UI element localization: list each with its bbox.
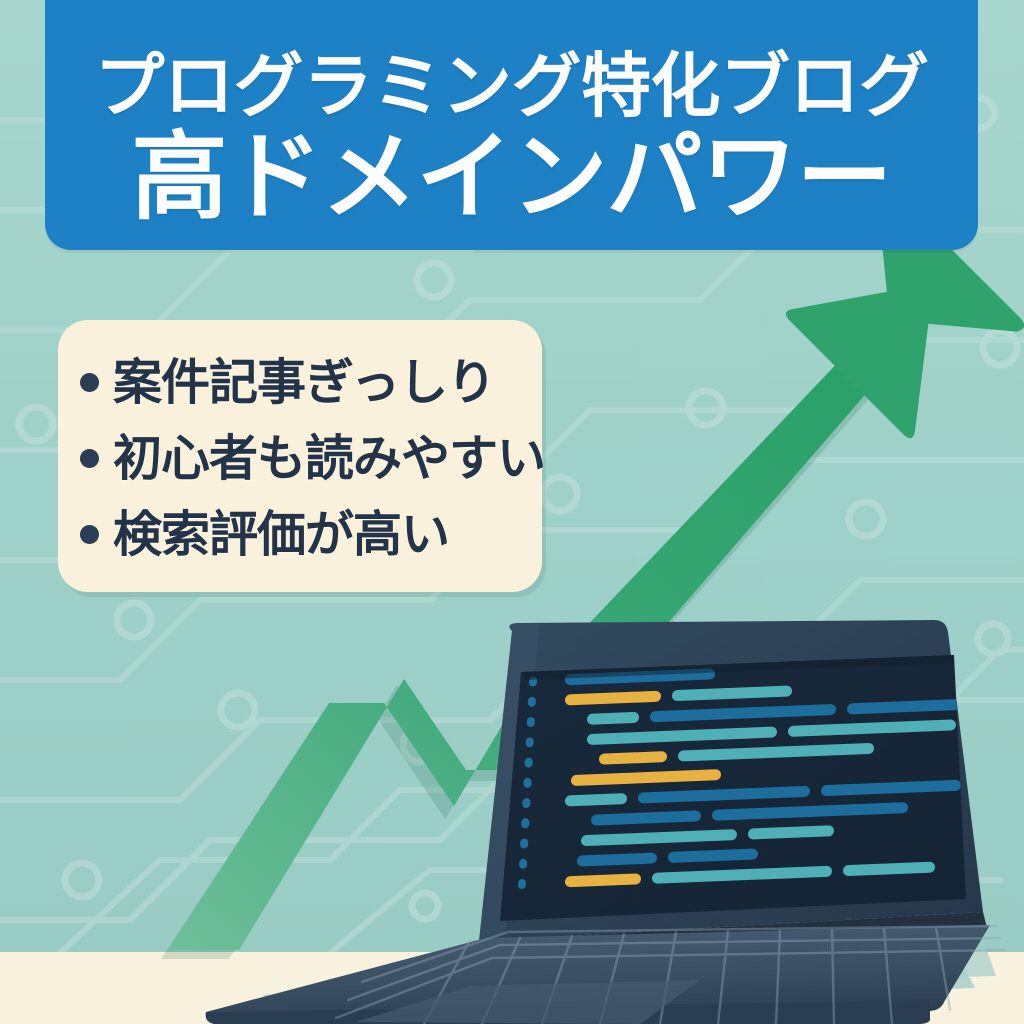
code-gutter-dot xyxy=(520,838,528,848)
code-gutter-dot xyxy=(521,818,529,828)
bullet-item-3: 検索評価が高い xyxy=(80,498,524,570)
code-gutter-dot xyxy=(519,859,527,869)
bullet-item-2: 初心者も読みやすい xyxy=(80,422,524,494)
bullet-dot-icon xyxy=(80,373,99,392)
headline-line-2: 高ドメインパワー xyxy=(132,127,892,228)
code-gutter-dot xyxy=(527,717,535,727)
bullet-label-1: 案件記事ぎっしり xyxy=(113,358,495,407)
code-gutter-dot xyxy=(518,879,526,889)
headline-line-1: プログラミング特化ブログ xyxy=(95,51,929,121)
code-gutter-dot xyxy=(528,697,536,707)
code-token-teal xyxy=(587,712,639,725)
bullet-dot-icon xyxy=(80,525,99,544)
bullet-dot-icon xyxy=(80,449,99,468)
bullet-label-3: 検索評価が高い xyxy=(113,510,449,559)
code-gutter-dot xyxy=(525,757,533,767)
code-gutter-dot xyxy=(524,778,532,788)
headline-banner: プログラミング特化ブログ 高ドメインパワー xyxy=(45,0,978,250)
feature-bullet-card: 案件記事ぎっしり 初心者も読みやすい 検索評価が高い xyxy=(58,320,542,592)
bullet-item-1: 案件記事ぎっしり xyxy=(80,346,524,418)
code-gutter-dot xyxy=(522,798,530,808)
bullet-label-2: 初心者も読みやすい xyxy=(113,434,545,483)
poster-canvas: プログラミング特化ブログ 高ドメインパワー 案件記事ぎっしり 初心者も読みやすい… xyxy=(0,0,1024,1024)
code-gutter-dot xyxy=(526,737,534,747)
